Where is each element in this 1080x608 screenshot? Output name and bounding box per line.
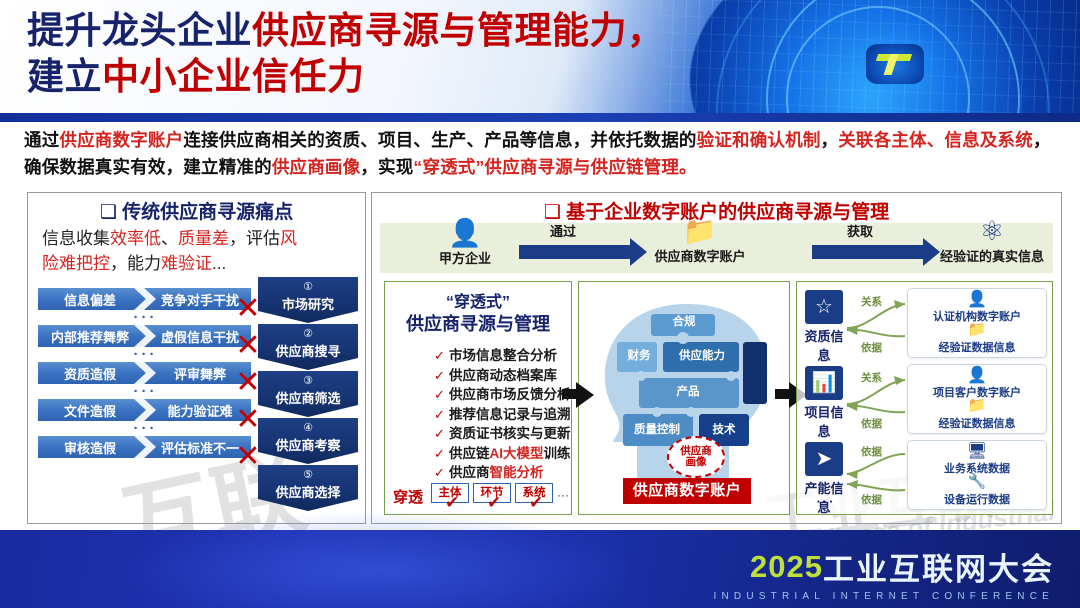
pain-row-left-label: 资质造假 — [44, 364, 136, 383]
funnel-step-number: ① — [258, 280, 358, 293]
pain-chevron: 信息偏差竞争对手干扰 — [38, 288, 251, 310]
left-panel-title: ❑ 传统供应商寻源痛点 — [28, 197, 365, 224]
body-seg-8-highlight: 供应商画像 — [272, 157, 361, 177]
body-seg-9: ，实现 — [360, 157, 413, 177]
portrait-line2: 画像 — [686, 456, 707, 468]
pain-row[interactable]: 资质造假评审舞弊 — [38, 362, 253, 384]
funnel-step-label: 供应商筛选 — [258, 388, 358, 407]
funnel-step-label: 供应商选择 — [258, 482, 358, 501]
funnel-step[interactable]: ①市场研究 — [258, 277, 358, 323]
pain-seg-8-highlight: 难验证 — [161, 254, 212, 273]
conference-logo: 2025工业互联网大会 INDUSTRIAL INTERNET CONFEREN… — [714, 544, 1054, 602]
evidence-card-text-bottom: 经验证数据信息 — [908, 339, 1046, 355]
capability-item-post: 训练 — [544, 446, 571, 461]
body-seg-6-highlight: 关联各主体、信息及系统 — [838, 130, 1033, 150]
pierce-label: 穿透 — [393, 486, 423, 507]
pain-row-dots: ··· — [38, 310, 253, 325]
pierce-ellipsis: ··· — [557, 488, 569, 502]
title-line2-part1: 建立 — [27, 56, 102, 97]
funnel-step[interactable]: ④供应商考察 — [258, 418, 358, 464]
capability-box: “穿透式” 供应商寻源与管理 市场信息整合分析 供应商动态档案库 供应商市场反馈… — [384, 281, 572, 515]
funnel-step-number: ⑤ — [258, 468, 358, 481]
conference-year: 2025 — [750, 549, 823, 585]
flow-node-buyer-label: 甲方企业 — [420, 248, 510, 267]
pain-row-left-label: 文件造假 — [44, 401, 136, 420]
body-seg-3: 连接供应商相关的资质、项目、生产、产品等信息，并依托数据的 — [183, 130, 696, 150]
evidence-card[interactable]: 👤 认证机构数字账户 📁 经验证数据信息 — [907, 288, 1047, 358]
atom-icon: ⚛ — [932, 217, 1052, 245]
flow-node-account-label: 供应商数字账户 — [640, 246, 760, 265]
arrow-in-head-icon — [576, 382, 594, 408]
funnel-step[interactable]: ②供应商搜寻 — [258, 324, 358, 370]
summary-paragraph: 通过供应商数字账户连接供应商相关的资质、项目、生产、产品等信息，并依托数据的验证… — [24, 127, 1060, 181]
sourcing-funnel: ①市场研究 ②供应商搜寻 ③供应商筛选 ④供应商考察 ⑤供应商选择 — [258, 277, 358, 512]
pierce-row: 穿透 主体 ✔ 环节 ✔ 系统 ✔ ··· — [393, 482, 569, 508]
flow-node-verified-label: 经验证的真实信息 — [932, 246, 1052, 265]
funnel-step[interactable]: ③供应商筛选 — [258, 371, 358, 417]
body-seg-2-highlight: 供应商数字账户 — [59, 130, 183, 150]
slide-footer: 2025工业互联网大会 INDUSTRIAL INTERNET CONFEREN… — [0, 530, 1080, 608]
aii-t-logo-icon — [866, 44, 924, 84]
folder-icon: 📁 — [908, 398, 1046, 414]
title-line1-part2: 供应商寻源与管理能力， — [252, 10, 665, 51]
header-divider-rule — [0, 113, 1080, 122]
title-line2-part2: 中小企业信任力 — [102, 56, 365, 97]
brain-piece-label: 质量控制 — [629, 424, 685, 437]
pain-row[interactable]: 审核造假评估标准不一 — [38, 436, 253, 458]
supplier-profile-box: 合规 财务 供应能力 产品 质量控制 技术 供应商画像 供应商数字账户 — [578, 281, 790, 515]
folder-icon: 📁 — [640, 217, 760, 245]
footer-glow-decor — [120, 510, 640, 608]
pain-row[interactable]: 文件造假能力验证难 — [38, 399, 253, 421]
evidence-card[interactable]: 👤 项目客户数字账户 📁 经验证数据信息 — [907, 364, 1047, 434]
pain-seg-3: 、 — [161, 229, 178, 248]
title-line1-part1: 提升龙头企业 — [27, 10, 252, 51]
flow-arrow-1-icon — [519, 245, 631, 259]
funnel-step-label: 供应商考察 — [258, 435, 358, 454]
evidence-row-project: 📊 项目信息 关系 依据 👤 项目客户数字账户 📁 经验证数据信息 — [803, 364, 1048, 436]
relation-label-bottom: 依据 — [861, 416, 882, 431]
funnel-step[interactable]: ⑤供应商选择 — [258, 465, 358, 511]
pain-chevron: 审核造假评估标准不一 — [38, 436, 251, 458]
relation-label-bottom: 依据 — [861, 492, 882, 507]
pain-chevron: 内部推荐舞弊虚假信息干扰 — [38, 325, 251, 347]
capability-title: “穿透式” 供应商寻源与管理 — [385, 288, 571, 336]
evidence-row-label: 资质信息 — [801, 326, 847, 364]
conference-name-en: INDUSTRIAL INTERNET CONFERENCE — [714, 591, 1054, 602]
pain-row-left-label: 审核造假 — [44, 438, 136, 457]
body-seg-5: ， — [821, 130, 839, 150]
supplier-portrait-badge: 供应商画像 — [667, 436, 725, 478]
person-icon: 👤 — [908, 291, 1046, 308]
evidence-card-text-bottom: 经验证数据信息 — [908, 415, 1046, 431]
relation-label-bottom: 依据 — [861, 340, 882, 355]
flow-arrow-2-icon — [812, 245, 924, 259]
slide-header: 提升龙头企业供应商寻源与管理能力， 建立中小企业信任力 — [0, 0, 1080, 118]
pain-row-dots: ··· — [38, 421, 253, 436]
relation-label-top: 依据 — [861, 444, 882, 459]
capability-item-highlight: 智能分析 — [490, 465, 544, 480]
funnel-step-number: ② — [258, 327, 358, 340]
evidence-row-label: 项目信息 — [801, 402, 847, 440]
body-seg-4-highlight: 验证和确认机制 — [697, 130, 821, 150]
right-panel-digital-account: ❑ 基于企业数字账户的供应商寻源与管理 工业互联网产业联盟 Alliance o… — [371, 192, 1062, 524]
pain-row[interactable]: 内部推荐舞弊虚假信息干扰 — [38, 325, 253, 347]
flow-node-buyer[interactable]: 👤 甲方企业 — [420, 219, 510, 267]
pain-row-left-label: 内部推荐舞弊 — [44, 327, 136, 346]
pain-row[interactable]: 信息偏差竞争对手干扰 — [38, 288, 253, 310]
page-title: 提升龙头企业供应商寻源与管理能力， 建立中小企业信任力 — [27, 8, 807, 100]
pain-seg-2-highlight: 效率低 — [110, 229, 161, 248]
funnel-step-number: ④ — [258, 421, 358, 434]
pain-description: 信息收集效率低、质量差，评估风险难把控，能力难验证... — [42, 226, 297, 276]
person-icon: 👤 — [908, 367, 1046, 384]
capability-item-pre: 供应商 — [449, 465, 490, 480]
evidence-card-text-bottom: 设备运行数据 — [908, 491, 1046, 507]
body-seg-1: 通过 — [24, 130, 59, 150]
certificate-icon: ☆ — [805, 290, 843, 324]
supplier-account-badge[interactable]: 供应商数字账户 — [623, 478, 751, 504]
pain-seg-4-highlight: 质量差 — [178, 229, 229, 248]
funnel-step-number: ③ — [258, 374, 358, 387]
brain-piece-label: 产品 — [671, 386, 705, 399]
capability-title-line2: 供应商寻源与管理 — [385, 310, 571, 336]
evidence-box: ☆ 资质信息 关系 依据 👤 认证机构数字账户 📁 经验证数据信息 — [796, 281, 1053, 515]
capability-item-pre: 供应链 — [449, 446, 490, 461]
person-icon: 👤 — [420, 219, 510, 247]
capability-title-line1: “穿透式” — [385, 288, 571, 312]
arrow-in-tail-icon — [562, 389, 576, 399]
flow-node-account[interactable]: 📁 供应商数字账户 — [640, 217, 760, 265]
brain-diagram: 合规 财务 供应能力 产品 质量控制 技术 供应商画像 供应商数字账户 — [579, 296, 789, 514]
evidence-row-capacity: ➤ 产能信息 ··· 依据 依据 🖥 业务系统数据 🔧 设备运行数据 — [803, 440, 1048, 512]
body-seg-10-highlight: “穿透式”供应商寻源与供应链管理。 — [413, 157, 696, 177]
flow-arrow2-label: 获取 — [847, 221, 873, 240]
brain-piece-label: 供应能力 — [673, 350, 731, 363]
funnel-step-label: 市场研究 — [258, 294, 358, 313]
left-panel-pain-points: ❑ 传统供应商寻源痛点 互联 信息收集效率低、质量差，评估风险难把控，能力难验证… — [27, 192, 366, 524]
paper-plane-icon: ➤ — [805, 442, 843, 476]
capability-item-highlight: AI大模型 — [490, 446, 544, 461]
machine-icon: 🔧 — [908, 474, 1046, 490]
flow-arrow1-label: 通过 — [550, 221, 576, 240]
pain-seg-7: ，能力 — [110, 254, 161, 273]
slide-root: 提升龙头企业供应商寻源与管理能力， 建立中小企业信任力 通过供应商数字账户连接供… — [0, 0, 1080, 608]
pain-chevron: 文件造假能力验证难 — [38, 399, 251, 421]
pain-row-left-label: 信息偏差 — [44, 290, 136, 309]
folder-icon: 📁 — [908, 322, 1046, 338]
evidence-row-qualification: ☆ 资质信息 关系 依据 👤 认证机构数字账户 📁 经验证数据信息 — [803, 288, 1048, 360]
brain-piece-label: 合规 — [667, 316, 701, 329]
pain-flow-rows: 信息偏差竞争对手干扰 ··· 内部推荐舞弊虚假信息干扰 ··· 资质造假评审舞弊… — [38, 288, 253, 458]
relation-label-top: 关系 — [861, 294, 882, 309]
relation-label-top: 关系 — [861, 370, 882, 385]
conference-name-cn: 工业互联网大会 — [823, 544, 1054, 589]
capability-checklist: 市场信息整合分析 供应商动态档案库 供应商市场反馈分析 推荐信息记录与追溯 资质… — [394, 346, 608, 483]
pain-row-dots: ··· — [38, 347, 253, 362]
pain-row-dots: ··· — [38, 384, 253, 399]
brain-piece-label: 财务 — [625, 350, 653, 363]
flow-node-verified[interactable]: ⚛ 经验证的真实信息 — [932, 217, 1052, 265]
pain-seg-9: ... — [212, 254, 226, 273]
pain-chevron: 资质造假评审舞弊 — [38, 362, 251, 384]
funnel-step-label: 供应商搜寻 — [258, 341, 358, 360]
evidence-card[interactable]: 🖥 业务系统数据 🔧 设备运行数据 — [907, 440, 1047, 510]
arrow-out-tail-icon — [775, 389, 789, 399]
pain-seg-1: 信息收集 — [42, 229, 110, 248]
monitor-icon: 🖥 — [908, 443, 1046, 460]
brain-piece-label: 技术 — [707, 424, 741, 437]
pain-seg-5: ，评估 — [229, 229, 280, 248]
supplier-portrait-text: 供应商画像 — [680, 446, 712, 468]
presentation-icon: 📊 — [805, 366, 843, 400]
